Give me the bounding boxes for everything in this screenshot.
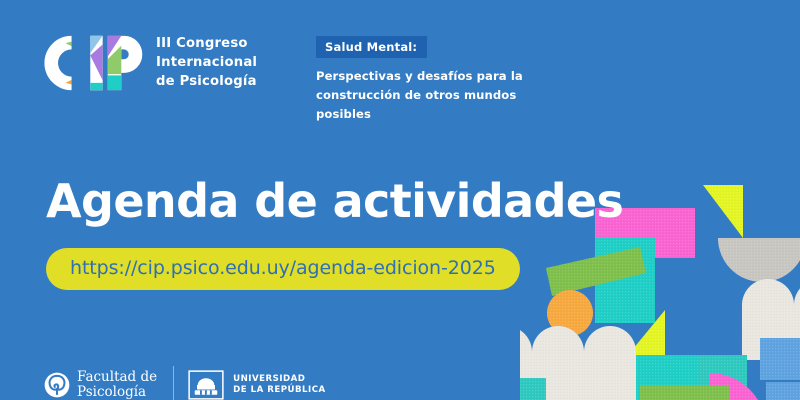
facultad-line-2: Psicología [77, 385, 157, 400]
congress-line-1: III Congreso [156, 34, 257, 53]
agenda-url-link[interactable]: https://cip.psico.edu.uy/agenda-edicion-… [46, 248, 520, 290]
deco-yellow-triangle-top [703, 185, 743, 238]
deco-yellow-triangle-mid [628, 310, 665, 355]
congress-logo-lockup: III Congreso Internacional de Psicología [44, 32, 257, 94]
deco-teal-sliver-bottom [520, 378, 546, 400]
facultad-psicologia-text: Facultad de Psicología [77, 370, 157, 400]
deco-gray-dome [718, 238, 800, 282]
deco-lightblue-square [760, 338, 800, 380]
udelar-logo: UNIVERSIDAD DE LA REPÚBLICA [188, 370, 326, 400]
udelar-line-1: UNIVERSIDAD [233, 374, 326, 385]
congress-line-3: de Psicología [156, 72, 257, 91]
deco-cream-cloud-left [520, 326, 636, 400]
congress-line-2: Internacional [156, 53, 257, 72]
footer-logos: Facultad de Psicología UNIVERSIDAD DE LA… [44, 354, 326, 400]
deco-teal-square-lower [630, 355, 697, 400]
theme-block: Salud Mental: Perspectivas y desafíos pa… [316, 36, 566, 124]
udelar-building-icon [188, 370, 224, 400]
deco-cream-cloud-right [742, 279, 800, 360]
deco-lightblue-sliver [766, 382, 800, 400]
udelar-text: UNIVERSIDAD DE LA REPÚBLICA [233, 374, 326, 396]
congress-banner: III Congreso Internacional de Psicología… [0, 0, 800, 400]
facultad-line-1: Facultad de [77, 370, 157, 385]
theme-subtitle-line-1: Perspectivas y desafíos para la [316, 67, 566, 86]
deco-green-block-bottom [640, 385, 730, 400]
congress-name: III Congreso Internacional de Psicología [156, 32, 257, 91]
facultad-psicologia-logo: Facultad de Psicología [44, 370, 157, 400]
theme-subtitle-line-2: construcción de otros mundos posibles [316, 86, 566, 124]
cip-letter-i [88, 32, 107, 94]
theme-badge: Salud Mental: [316, 36, 427, 58]
cip-letter-p [104, 32, 144, 94]
page-title: Agenda de actividades [46, 178, 623, 224]
deco-teal-block [595, 238, 655, 323]
deco-teal-block-right [697, 355, 747, 395]
deco-green-diagonal-bar [546, 247, 646, 296]
deco-pink-quarter-disc [710, 373, 766, 400]
theme-subtitle: Perspectivas y desafíos para la construc… [316, 67, 566, 124]
psico-spiral-icon [44, 372, 70, 398]
footer-divider [173, 366, 174, 400]
deco-orange-circle [547, 290, 593, 336]
udelar-line-2: DE LA REPÚBLICA [233, 385, 326, 396]
cip-logo [44, 32, 144, 94]
